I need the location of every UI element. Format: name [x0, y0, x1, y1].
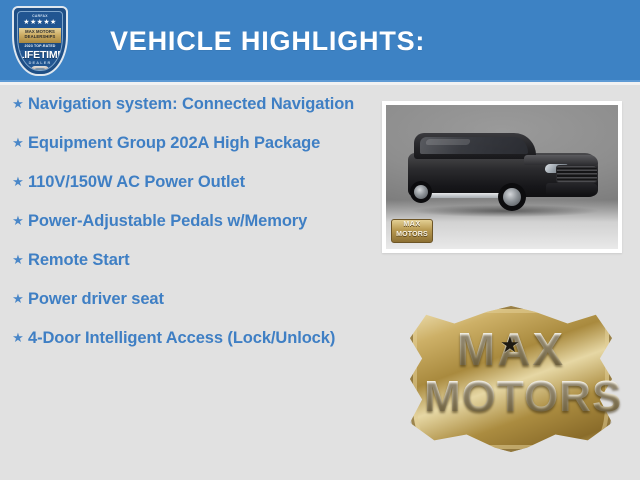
star-bullet-icon: ★	[8, 93, 28, 115]
shield-inner-frame: CARFAX ★★★★★ MAX MOTORS DEALERSHIPS 2023…	[17, 11, 63, 71]
list-item-label: 4-Door Intelligent Access (Lock/Unlock)	[28, 327, 370, 349]
header-underline-light	[0, 82, 640, 85]
star-bullet-icon: ★	[8, 249, 28, 271]
logo-motors-label: MOTORS	[424, 374, 622, 420]
star-bullet-icon: ★	[8, 327, 28, 349]
suv-rear-wheel	[410, 181, 432, 203]
vehicle-photo: MAX MOTORS	[386, 105, 618, 249]
photo-watermark-logo: MAX MOTORS	[391, 219, 433, 243]
badge-dealer-label: DEALER	[18, 61, 62, 65]
page-title: VEHICLE HIGHLIGHTS:	[110, 26, 425, 57]
star-bullet-icon: ★	[8, 171, 28, 193]
suv-running-board	[428, 193, 508, 198]
list-item: ★ Power driver seat	[8, 288, 370, 310]
badge-car-icon	[31, 66, 49, 71]
vehicle-photo-frame: MAX MOTORS	[382, 101, 622, 253]
star-bullet-icon: ★	[8, 132, 28, 154]
list-item-label: Navigation system: Connected Navigation	[28, 93, 370, 115]
list-item-label: Power driver seat	[28, 288, 370, 310]
watermark-max-label: MAX	[391, 221, 433, 229]
carfax-lifetime-dealer-badge: CARFAX ★★★★★ MAX MOTORS DEALERSHIPS 2023…	[12, 6, 68, 76]
logo-star-icon: ★	[500, 334, 520, 356]
list-item-label: Equipment Group 202A High Package	[28, 132, 370, 154]
suv-front-bumper	[546, 183, 598, 196]
list-item: ★ Power-Adjustable Pedals w/Memory	[8, 210, 370, 232]
list-item: ★ 110V/150W AC Power Outlet	[8, 171, 370, 193]
star-bullet-icon: ★	[8, 288, 28, 310]
max-motors-logo: MAX ★ MOTORS	[404, 300, 618, 458]
slide-canvas: CARFAX ★★★★★ MAX MOTORS DEALERSHIPS 2023…	[0, 0, 640, 480]
carfax-brand-label: CARFAX	[18, 14, 62, 18]
star-bullet-icon: ★	[8, 210, 28, 232]
suv-grille	[556, 165, 598, 183]
watermark-motors-label: MOTORS	[391, 230, 433, 239]
suv-window-glass	[420, 137, 528, 154]
list-item: ★ Equipment Group 202A High Package	[8, 132, 370, 154]
list-item: ★ 4-Door Intelligent Access (Lock/Unlock…	[8, 327, 370, 349]
badge-lifetime-label: LIFETIME	[18, 50, 62, 61]
list-item: ★ Remote Start	[8, 249, 370, 271]
vehicle-highlights-list: ★ Navigation system: Connected Navigatio…	[8, 93, 370, 366]
list-item-label: Remote Start	[28, 249, 370, 271]
logo-inner-area: MAX ★ MOTORS	[424, 318, 598, 438]
five-stars-icon: ★★★★★	[18, 19, 62, 26]
list-item-label: 110V/150W AC Power Outlet	[28, 171, 370, 193]
logo-motors-wrap: MOTORS	[424, 374, 598, 420]
list-item: ★ Navigation system: Connected Navigatio…	[8, 93, 370, 115]
badge-dealer-name-line2: DEALERSHIPS	[19, 34, 61, 39]
shield-outer-frame: CARFAX ★★★★★ MAX MOTORS DEALERSHIPS 2023…	[12, 6, 68, 76]
suv-illustration	[406, 131, 602, 213]
logo-max-wrap: MAX ★	[424, 326, 598, 372]
suv-front-wheel	[498, 183, 526, 211]
list-item-label: Power-Adjustable Pedals w/Memory	[28, 210, 370, 232]
badge-gold-band: MAX MOTORS DEALERSHIPS	[19, 28, 61, 43]
